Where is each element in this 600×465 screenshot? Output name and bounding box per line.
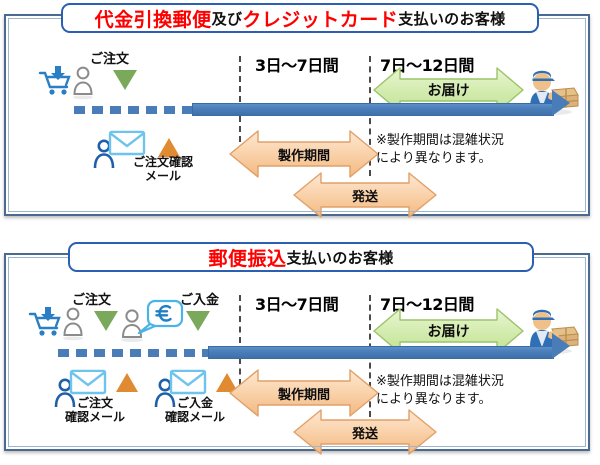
furikomi-payment-mail-label: ご入金 確認メール [165,397,225,425]
furikomi-timeline-dashed-segment [58,349,210,357]
furikomi-order-mail-label-text: ご注文 確認メール [65,396,125,424]
panel-cod: 代金引換郵便及びクレジットカード支払いのお客様 ご注文 [4,14,590,216]
furikomi-order-mail-marker-triangle [116,373,138,392]
panel-furikomi: 郵便振込支払いのお客様 ご注文 ご入金 [4,253,590,451]
cod-order-marker-triangle [113,70,137,90]
cod-timeline-dashed-segment [74,106,194,114]
furikomi-period-label-production: 3日～7日間 [255,291,338,315]
panel-cod-title-seg-1: 代金引換郵便 [95,5,212,32]
panel-furikomi-title: 郵便振込支払いのお客様 [68,242,534,272]
furikomi-timeline-arrowhead [552,333,570,359]
furikomi-timeline-bar [208,346,554,359]
furikomi-note: ※製作期間は混雑状況 により異なります。 [376,373,504,408]
cart-person-icon [26,305,88,345]
panel-cod-title: 代金引換郵便及びクレジットカード支払いのお客様 [61,3,539,33]
panel-cod-title-seg-4: 支払いのお客様 [398,8,505,29]
cod-period-label-production: 3日～7日間 [255,52,338,76]
furikomi-shipping-arrow: 発送 [292,407,438,457]
cod-timeline-arrowhead [552,90,570,116]
cod-mail-label-text: ご注文確認 メール [133,155,193,183]
furikomi-payment-marker-triangle [186,311,210,331]
cod-mail-label: ご注文確認 メール [133,156,193,184]
cod-note: ※製作期間は混雑状況 により異なります。 [376,132,504,167]
furikomi-order-marker-triangle [94,311,118,331]
cod-shipping-arrow: 発送 [292,170,438,220]
panel-cod-title-seg-2: 及び [212,8,243,29]
cod-timeline-bar [192,103,554,116]
cart-person-icon [36,64,98,104]
person-euro-bubble-icon [118,299,188,347]
panel-cod-title-seg-3: クレジットカード [242,5,398,32]
furikomi-order-mail-label: ご注文 確認メール [65,397,125,425]
panel-furikomi-title-seg-2: 支払いのお客様 [286,247,393,268]
delivery-flow-diagram: 代金引換郵便及びクレジットカード支払いのお客様 ご注文 [0,0,600,465]
furikomi-payment-mail-label-text: ご入金 確認メール [165,396,225,424]
panel-furikomi-title-seg-1: 郵便振込 [208,244,286,271]
